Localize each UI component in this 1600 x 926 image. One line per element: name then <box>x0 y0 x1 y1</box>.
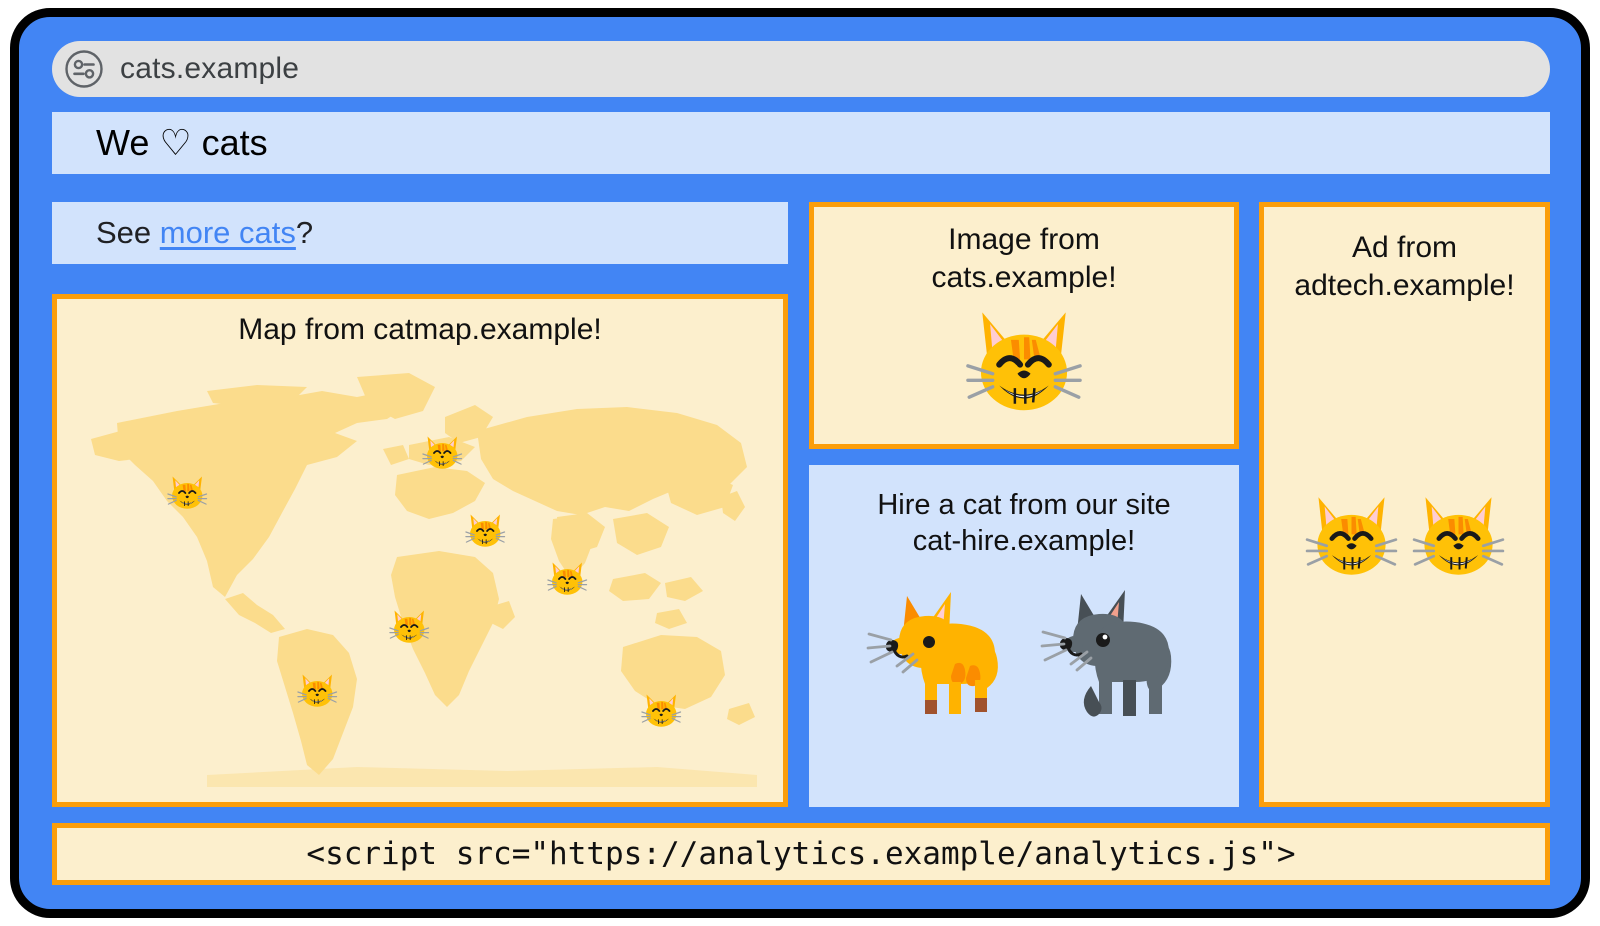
tune-icon[interactable] <box>64 49 104 89</box>
script-tag-panel: <script src="https://analytics.example/a… <box>52 823 1550 885</box>
map-panel-title: Map from catmap.example! <box>57 299 783 349</box>
grinning-cat-icon <box>1303 489 1400 584</box>
hire-panel-title: Hire a cat from our site cat-hire.exampl… <box>809 465 1239 560</box>
world-map[interactable] <box>57 361 783 801</box>
image-panel[interactable]: Image from cats.example! <box>809 202 1239 449</box>
grinning-cat-icon <box>939 302 1109 422</box>
address-bar[interactable]: cats.example <box>52 41 1550 97</box>
tune-icon-svg <box>64 49 104 89</box>
image-panel-title: Image from cats.example! <box>814 207 1234 296</box>
headline-banner: We ♡ cats <box>52 112 1550 174</box>
page-title: We ♡ cats <box>52 122 268 164</box>
world-map-svg <box>57 361 783 801</box>
see-more-suffix: ? <box>296 215 313 250</box>
script-tag-text: <script src="https://analytics.example/a… <box>306 836 1295 872</box>
grinning-cat-icon <box>1410 489 1507 584</box>
more-cats-link[interactable]: more cats <box>160 215 296 250</box>
hire-cats-row <box>809 582 1239 727</box>
browser-window: cats.example We ♡ cats See more cats? Ma… <box>10 8 1590 918</box>
see-more-prefix: See <box>96 215 160 250</box>
hire-panel[interactable]: Hire a cat from our site cat-hire.exampl… <box>809 465 1239 807</box>
cat-face-image <box>814 302 1234 422</box>
see-more-banner: See more cats? <box>52 202 788 264</box>
orange-cat-icon <box>863 582 1013 727</box>
see-more-text: See more cats? <box>52 215 313 251</box>
gray-cat-icon <box>1035 582 1185 727</box>
ad-panel-title: Ad from adtech.example! <box>1264 207 1545 304</box>
address-input-value[interactable]: cats.example <box>120 52 299 86</box>
map-panel[interactable]: Map from catmap.example! <box>52 294 788 807</box>
ad-panel[interactable]: Ad from adtech.example! <box>1259 202 1550 807</box>
ad-cats-row <box>1264 489 1545 584</box>
